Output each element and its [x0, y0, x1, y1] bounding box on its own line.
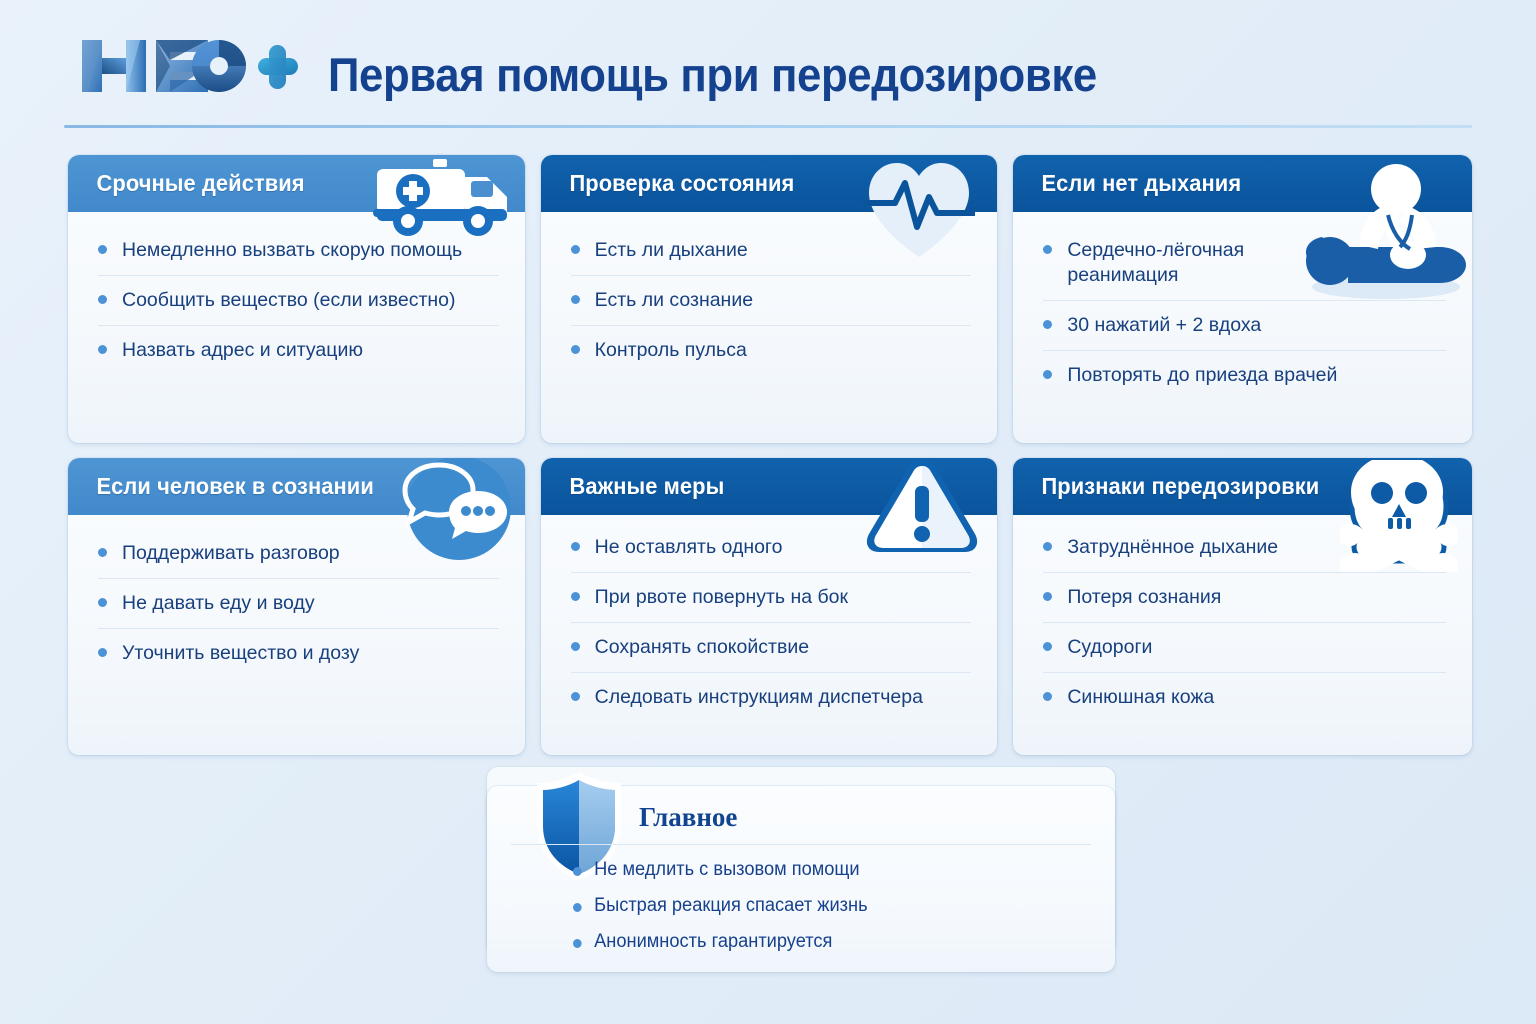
card-title: Проверка состояния [541, 170, 794, 197]
list-item: Следовать инструкциям диспетчера [571, 673, 972, 722]
card-conscious-person[interactable]: Если человек в сознании [68, 458, 525, 755]
summary-rule [511, 844, 1091, 845]
card-title: Важные меры [541, 473, 724, 500]
card-overdose-signs[interactable]: Признаки передозировки [1013, 458, 1472, 755]
card-title: Признаки передозировки [1013, 473, 1319, 500]
cards-row-2: Если человек в сознании [68, 458, 1472, 755]
card-header: Если человек в сознании [68, 458, 525, 515]
summary-panel[interactable]: Главное Не медлить с вызовом помощи Быст… [487, 786, 1115, 972]
card-item-list: Сердечно-лёгочная реанимация 30 нажатий … [1043, 226, 1446, 400]
page-title: Первая помощь при передозировке [328, 40, 1097, 110]
list-item: Поддерживать разговор [98, 529, 499, 579]
card-body: Есть ли дыхание Есть ли сознание Контрол… [541, 212, 998, 375]
list-item: Сообщить вещество (если известно) [98, 276, 499, 326]
list-item: 30 нажатий + 2 вдоха [1043, 301, 1446, 351]
card-item-list: Есть ли дыхание Есть ли сознание Контрол… [571, 226, 972, 375]
card-header: Проверка состояния [541, 155, 998, 212]
header-divider [64, 125, 1472, 128]
summary-title: Главное [639, 802, 737, 833]
card-header: Срочные действия [68, 155, 525, 212]
cards-row-1: Срочные действия [68, 155, 1472, 443]
list-item: Назвать адрес и ситуацию [98, 326, 499, 375]
card-body: Сердечно-лёгочная реанимация 30 нажатий … [1013, 212, 1472, 400]
card-title: Если нет дыхания [1013, 170, 1241, 197]
list-item: Повторять до приезда врачей [1043, 351, 1446, 400]
card-item-list: Затруднённое дыхание Потеря сознания Суд… [1043, 523, 1446, 722]
infographic-page: Первая помощь при передозировке Срочные … [0, 0, 1536, 1024]
card-body: Немедленно вызвать скорую помощь Сообщит… [68, 212, 525, 375]
list-item: Есть ли дыхание [571, 226, 972, 276]
list-item: Контроль пульса [571, 326, 972, 375]
list-item: Не медлить с вызовом помощи [573, 852, 868, 888]
list-item: Затруднённое дыхание [1043, 523, 1446, 573]
card-body: Затруднённое дыхание Потеря сознания Суд… [1013, 515, 1472, 722]
list-item: Есть ли сознание [571, 276, 972, 326]
card-condition-check[interactable]: Проверка состояния Есть ли дыхание Есть … [541, 155, 998, 443]
page-header: Первая помощь при передозировке [0, 0, 1536, 126]
card-title: Если человек в сознании [68, 473, 374, 500]
card-header: Если нет дыхания [1013, 155, 1472, 212]
list-item: Анонимность гарантируется [573, 924, 868, 960]
list-item: Сердечно-лёгочная реанимация [1043, 226, 1446, 301]
card-item-list: Поддерживать разговор Не давать еду и во… [98, 529, 499, 678]
list-item: Быстрая реакция спасает жизнь [573, 888, 868, 924]
list-item: Немедленно вызвать скорую помощь [98, 226, 499, 276]
brand-logo [74, 30, 300, 102]
list-item: Потеря сознания [1043, 573, 1446, 623]
card-body: Поддерживать разговор Не давать еду и во… [68, 515, 525, 678]
list-item: При рвоте повернуть на бок [571, 573, 972, 623]
cards-grid: Срочные действия [68, 155, 1472, 755]
card-body: Не оставлять одного При рвоте повернуть … [541, 515, 998, 722]
card-title: Срочные действия [68, 170, 305, 197]
card-item-list: Не оставлять одного При рвоте повернуть … [571, 523, 972, 722]
list-item: Судороги [1043, 623, 1446, 673]
list-item: Синюшная кожа [1043, 673, 1446, 722]
card-header: Признаки передозировки [1013, 458, 1472, 515]
list-item: Сохранять спокойствие [571, 623, 972, 673]
card-urgent-actions[interactable]: Срочные действия [68, 155, 525, 443]
list-item: Не оставлять одного [571, 523, 972, 573]
card-important-measures[interactable]: Важные меры Не оставлять одного [541, 458, 998, 755]
card-header: Важные меры [541, 458, 998, 515]
card-item-list: Немедленно вызвать скорую помощь Сообщит… [98, 226, 499, 375]
summary-item-list: Не медлить с вызовом помощи Быстрая реак… [573, 852, 880, 960]
list-item: Уточнить вещество и дозу [98, 629, 499, 678]
list-item: Не давать еду и воду [98, 579, 499, 629]
card-no-breathing[interactable]: Если нет дыхания [1013, 155, 1472, 443]
